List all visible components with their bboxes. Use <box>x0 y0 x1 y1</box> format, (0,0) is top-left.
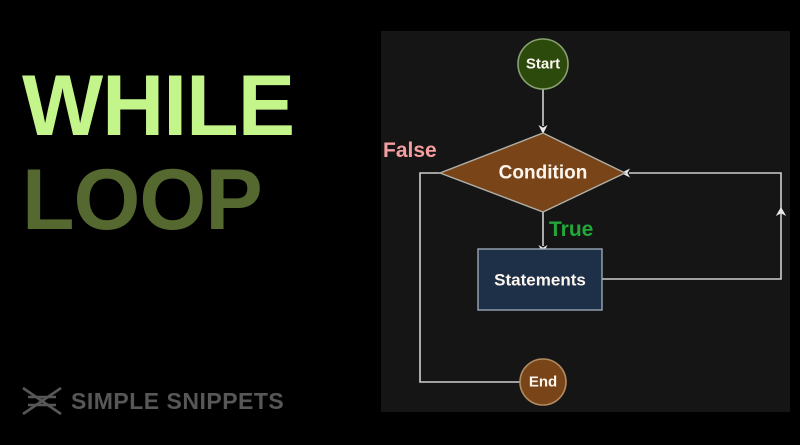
end-node-label: End <box>529 374 557 391</box>
brand-logo: SIMPLE SNIPPETS <box>20 384 284 418</box>
flow-node-condition[interactable]: Condition <box>440 133 625 212</box>
title-line-loop: LOOP <box>22 160 372 242</box>
crossed-x-logo-icon <box>20 384 64 418</box>
flowchart-panel: Start Condition Statements End False Tru… <box>381 31 790 412</box>
flow-node-end[interactable]: End <box>520 359 566 405</box>
brand-name: SIMPLE SNIPPETS <box>71 388 284 415</box>
flow-node-statements[interactable]: Statements <box>478 249 602 310</box>
page-title: WHILE LOOP <box>22 66 372 241</box>
flow-connectors <box>420 89 781 382</box>
flow-node-start[interactable]: Start <box>518 39 568 89</box>
logo-center-dot <box>40 399 44 403</box>
branch-label-true: True <box>549 218 593 241</box>
edge-statements-loopback-to-condition <box>602 173 781 279</box>
statements-node-label: Statements <box>494 271 586 290</box>
slide-canvas: WHILE LOOP SIMPLE SNIPPETS <box>0 0 800 445</box>
flowchart-diagram: Start Condition Statements End False Tru… <box>381 31 790 412</box>
branch-label-false: False <box>383 139 437 162</box>
start-node-label: Start <box>526 56 560 73</box>
title-line-while: WHILE <box>22 66 372 148</box>
condition-node-label: Condition <box>499 163 588 184</box>
